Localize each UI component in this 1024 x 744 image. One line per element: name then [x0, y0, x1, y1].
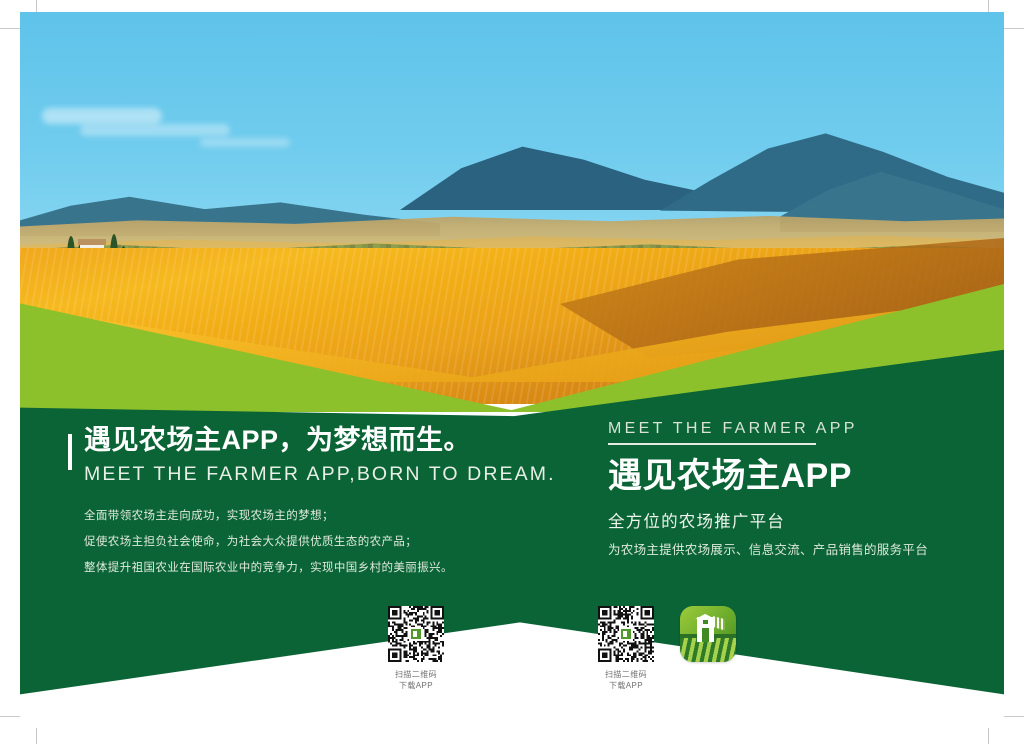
download-item: 扫描二维码 下载APP — [376, 606, 456, 691]
app-icon-barn-window — [703, 620, 708, 624]
farm-app-icon[interactable] — [680, 606, 736, 662]
qr-caption-line1: 扫描二维码 — [586, 669, 666, 680]
qr-caption-line2: 下载APP — [586, 680, 666, 691]
left-text-block: 遇见农场主APP，为梦想而生。 MEET THE FARMER APP,BORN… — [68, 420, 498, 587]
light-green-left — [20, 300, 520, 412]
left-bullet: 整体提升祖国农业在国际农业中的竞争力，实现中国乡村的美丽振兴。 — [84, 561, 498, 576]
qr-caption-line2: 下载APP — [376, 680, 456, 691]
app-icon-awning — [713, 616, 725, 631]
qr-code-android[interactable] — [388, 606, 444, 662]
qr-caption-line1: 扫描二维码 — [376, 669, 456, 680]
app-icon-fields — [680, 638, 736, 662]
eyebrow-underline — [608, 443, 816, 445]
app-icon-barn-door — [702, 628, 709, 641]
right-lead: 全方位的农场推广平台 — [608, 511, 988, 534]
left-subheadline: MEET THE FARMER APP,BORN TO DREAM. — [84, 461, 498, 487]
download-row: 扫描二维码 下载APP 扫描二维码 下载APP — [20, 606, 1004, 706]
right-description: 为农场主提供农场展示、信息交流、产品销售的服务平台 — [608, 541, 988, 559]
right-text-block: MEET THE FARMER APP 遇见农场主APP 全方位的农场推广平台 … — [608, 418, 988, 559]
right-title: 遇见农场主APP — [608, 454, 988, 498]
qr-code-ios[interactable] — [598, 606, 654, 662]
left-bullet: 全面带领农场主走向成功，实现农场主的梦想； — [84, 509, 498, 524]
left-headline: 遇见农场主APP，为梦想而生。 — [84, 420, 498, 460]
download-item: 扫描二维码 下载APP — [586, 606, 666, 691]
accent-bar — [68, 434, 72, 470]
qr-caption: 扫描二维码 下载APP — [376, 669, 456, 691]
left-bullet-list: 全面带领农场主走向成功，实现农场主的梦想； 促使农场主担负社会使命，为社会大众提… — [84, 509, 498, 576]
left-bullet: 促使农场主担负社会使命，为社会大众提供优质生态的农产品； — [84, 535, 498, 550]
qr-caption: 扫描二维码 下载APP — [586, 669, 666, 691]
poster-canvas: 遇见农场主APP，为梦想而生。 MEET THE FARMER APP,BORN… — [20, 12, 1004, 728]
right-eyebrow: MEET THE FARMER APP — [608, 418, 988, 439]
